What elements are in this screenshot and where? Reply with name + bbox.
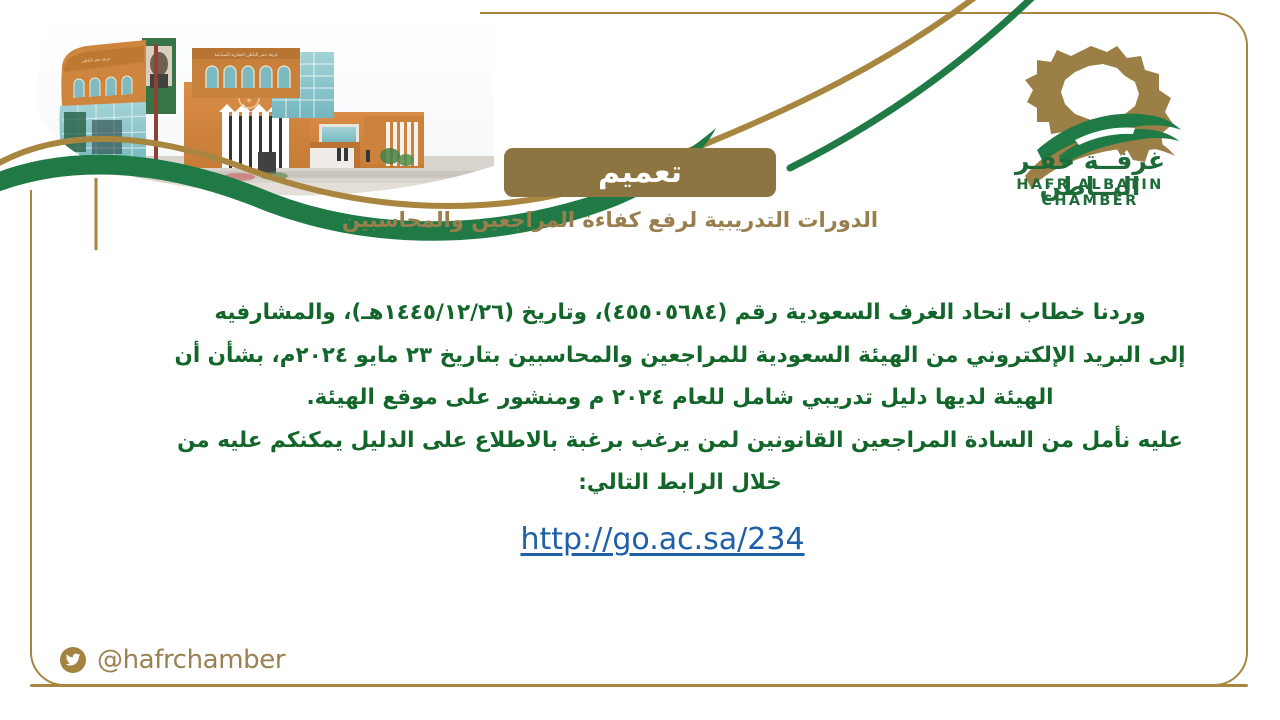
body-line: خلال الرابط التالي:: [150, 462, 1210, 505]
frame-bottom-rule: [30, 684, 1248, 687]
twitter-handle: @hafrchamber: [97, 645, 285, 675]
body-line: الهيئة لديها دليل تدريبي شامل للعام ٢٠٢٤…: [150, 377, 1210, 420]
guide-link[interactable]: http://go.ac.sa/234: [520, 522, 804, 557]
twitter-bird-icon: [60, 647, 86, 673]
page-title-pill: تعميم: [504, 148, 776, 197]
body-line: وردنا خطاب اتحاد الغرف السعودية رقم (٤٥٥…: [150, 292, 1210, 335]
guide-link-container: http://go.ac.sa/234: [150, 522, 1175, 557]
page-subtitle: الدورات التدريبية لرفع كفاءة المراجعين و…: [0, 208, 1280, 232]
body-line: إلى البريد الإلكتروني من الهيئة السعودية…: [150, 335, 1210, 378]
twitter-footer[interactable]: @hafrchamber: [60, 645, 285, 675]
logo-english-name: HAFR ALBATIN CHAMBER: [975, 177, 1205, 209]
poster-canvas: ◈ غرفة حفر الباطن التجارية الصناعية: [0, 0, 1280, 720]
announcement-body: وردنا خطاب اتحاد الغرف السعودية رقم (٤٥٥…: [150, 292, 1210, 505]
body-line: عليه نأمل من السادة المراجعين القانونين …: [150, 420, 1210, 463]
